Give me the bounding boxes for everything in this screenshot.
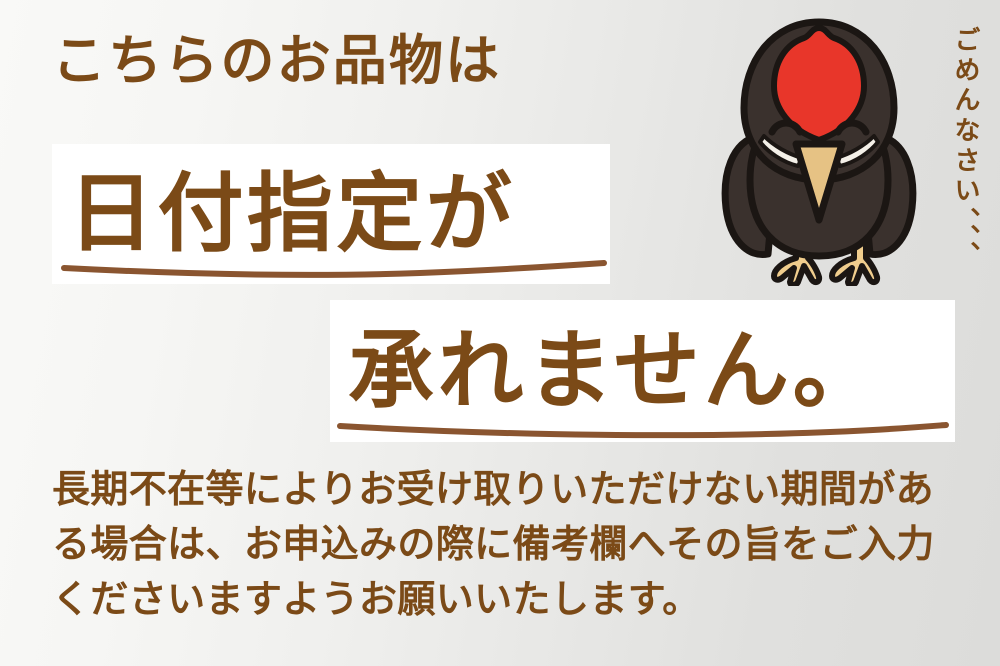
headline-line-3: 承れません。 (348, 328, 882, 414)
headline-highlight-box-line-3: 承れません。 (330, 300, 955, 442)
notice-banner: こちらのお品物は 日付指定が 承れません。 長期不在等によりお受け取りいただけな… (0, 0, 1000, 666)
body-paragraph: 長期不在等によりお受け取りいただけない期間がある場合は、お申込みの際に備考欄へそ… (52, 462, 962, 627)
apology-vertical-text: ごめんなさい、、、 (947, 26, 982, 271)
headline-line-2: 日付指定が (68, 171, 515, 257)
headline-line-1: こちらのお品物は (52, 34, 501, 88)
woodpecker-icon (716, 14, 922, 286)
headline-highlight-box-line-2: 日付指定が (52, 144, 610, 284)
